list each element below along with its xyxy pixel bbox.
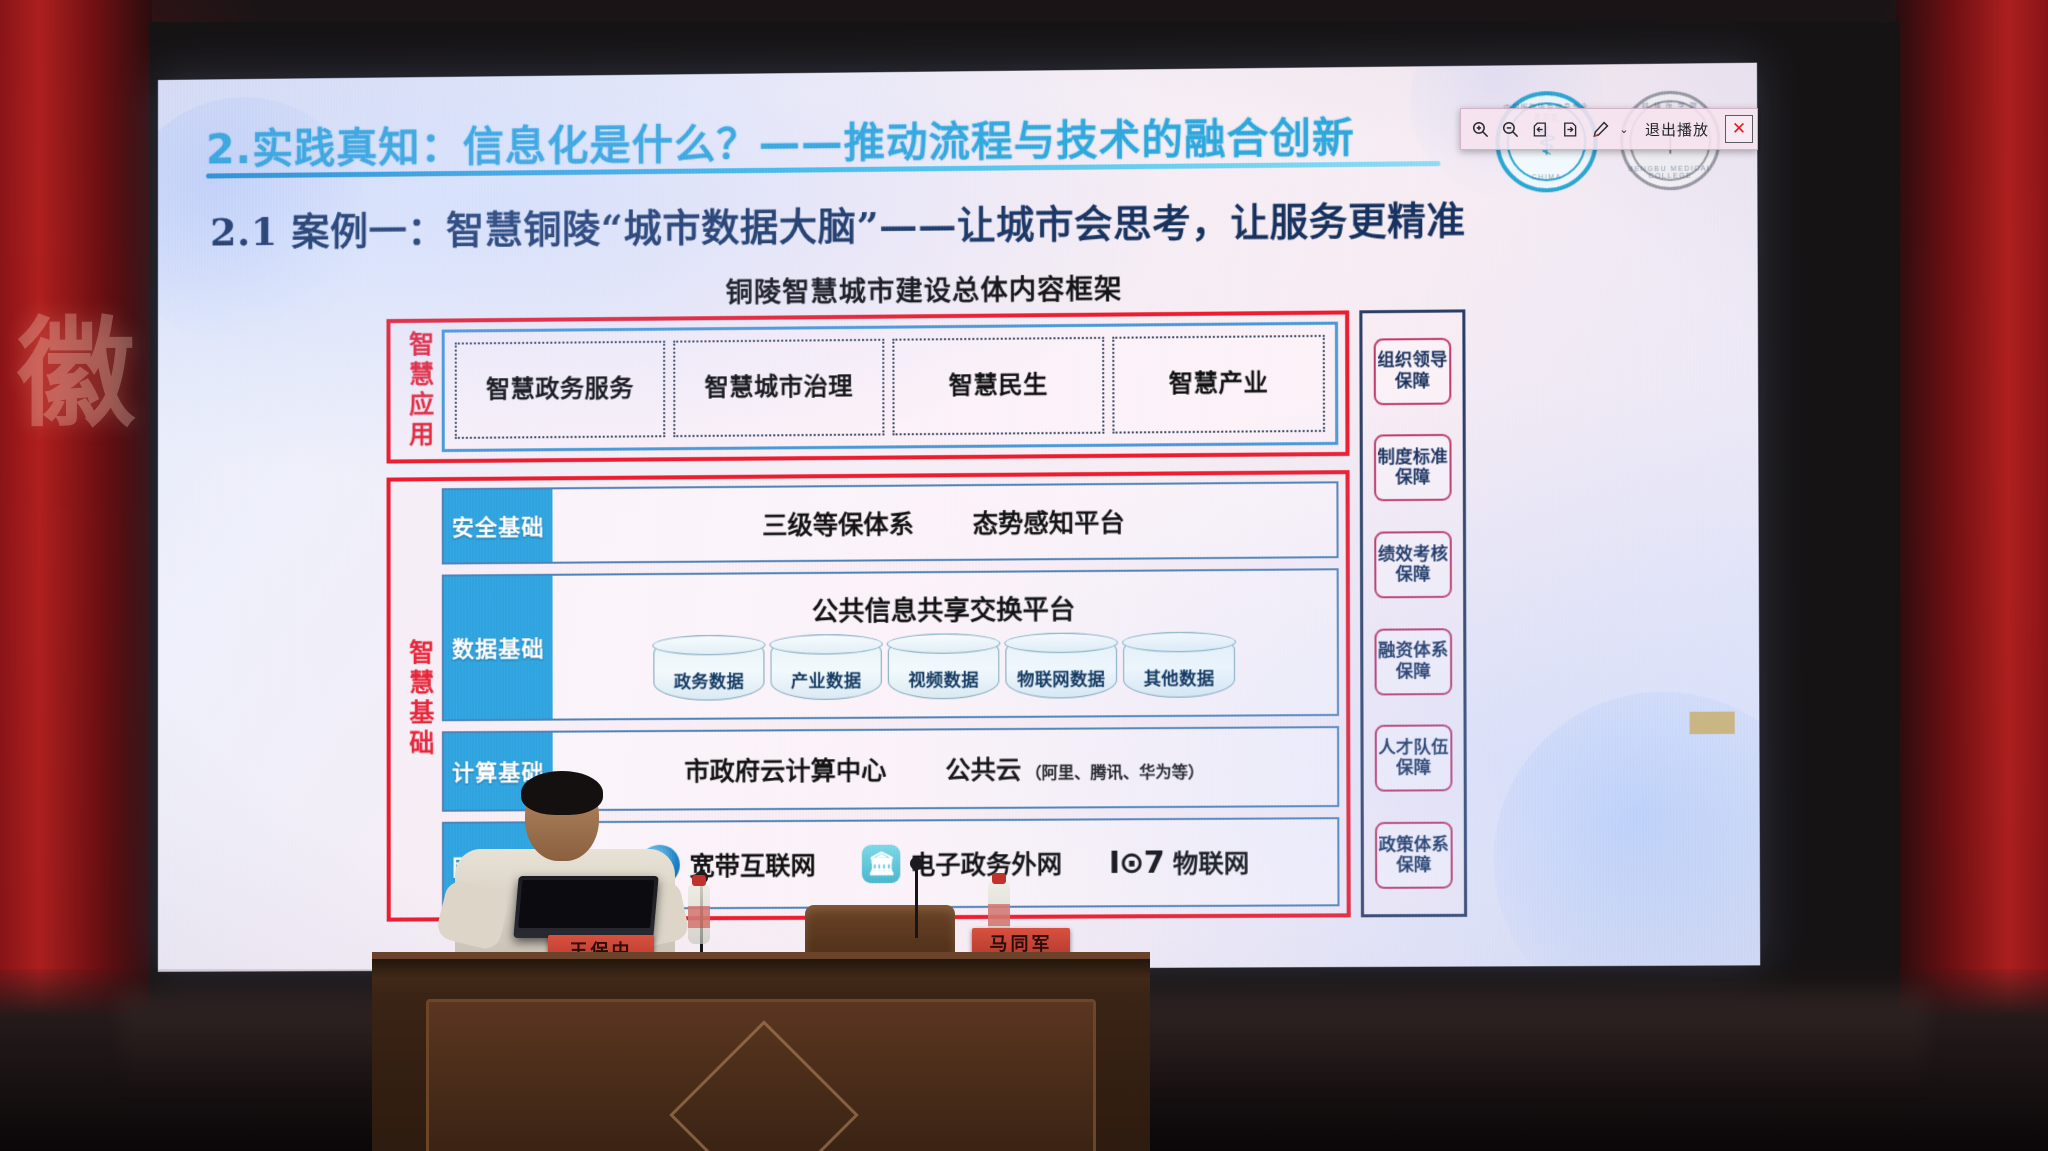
network-label: 电子政务外网 bbox=[910, 845, 1062, 882]
previous-page-icon[interactable] bbox=[1525, 113, 1555, 145]
guarantee-item: 制度标准保障 bbox=[1374, 434, 1452, 501]
database-label: 政务数据 bbox=[674, 667, 744, 693]
iot-logo-text: I⊙7 bbox=[1109, 845, 1164, 881]
database-cylinders: 政务数据 产业数据 视频数据 物联网数据 其他数据 bbox=[565, 631, 1325, 701]
government-building-icon: 🏛 bbox=[862, 845, 901, 884]
data-body: 公共信息共享交换平台 政务数据 产业数据 视频数据 物联网数据 其他数据 bbox=[553, 570, 1337, 718]
screen-frame: 2.实践真知：信息化是什么？——推动流程与技术的融合创新 2.1 案例一：智慧铜… bbox=[150, 22, 1900, 1062]
screen-artifact bbox=[1690, 712, 1735, 735]
iot-logo-icon: I⊙7 bbox=[1109, 845, 1164, 881]
database-cylinder: 视频数据 bbox=[888, 633, 1000, 699]
next-page-icon[interactable] bbox=[1555, 113, 1585, 145]
compute-note: （阿里、腾讯、华为等） bbox=[1025, 758, 1204, 783]
guarantee-item: 政策体系保障 bbox=[1375, 822, 1453, 889]
security-row: 安全基础 三级等保体系 态势感知平台 bbox=[442, 481, 1339, 564]
network-item-iot: I⊙7 物联网 bbox=[1109, 844, 1250, 881]
presenter-hair bbox=[521, 771, 603, 815]
app-cell: 智慧民生 bbox=[892, 337, 1104, 436]
application-layer-label: 智慧应用 bbox=[398, 330, 442, 453]
database-cylinder: 物联网数据 bbox=[1005, 632, 1117, 698]
close-button[interactable]: ✕ bbox=[1725, 115, 1753, 143]
data-tag: 数据基础 bbox=[444, 576, 553, 719]
auditorium-stage: 徽 2.实践真知：信息化是什么？——推动流程与技术的融合创新 2.1 案例一：智… bbox=[0, 0, 2048, 1151]
application-cells: 智慧政务服务 智慧城市治理 智慧民生 智慧产业 bbox=[442, 322, 1339, 452]
presentation-toolbar[interactable]: ⌄ 退出播放 ✕ bbox=[1460, 108, 1758, 150]
network-item-egov: 🏛 电子政务外网 bbox=[862, 844, 1062, 883]
guarantee-item: 人才队伍保障 bbox=[1375, 725, 1453, 792]
zoom-out-icon[interactable] bbox=[1495, 113, 1525, 145]
guarantee-item: 融资体系保障 bbox=[1374, 628, 1452, 695]
laptop bbox=[513, 876, 658, 938]
application-layer: 智慧应用 智慧政务服务 智慧城市治理 智慧民生 智慧产业 bbox=[386, 310, 1349, 463]
database-label: 视频数据 bbox=[908, 666, 979, 692]
database-label: 物联网数据 bbox=[1017, 665, 1105, 691]
security-item: 三级等保体系 bbox=[762, 505, 914, 542]
database-cylinder: 产业数据 bbox=[770, 634, 881, 700]
chevron-down-icon[interactable]: ⌄ bbox=[1615, 123, 1633, 136]
network-label: 物联网 bbox=[1173, 844, 1249, 881]
emblem-ring-bottom: CHIMA bbox=[1500, 174, 1594, 182]
app-cell: 智慧城市治理 bbox=[673, 339, 884, 437]
database-label: 产业数据 bbox=[791, 666, 861, 692]
slide-content: 2.实践真知：信息化是什么？——推动流程与技术的融合创新 2.1 案例一：智慧铜… bbox=[158, 63, 1760, 972]
database-cylinder: 其他数据 bbox=[1123, 632, 1235, 698]
laptop-screen bbox=[518, 880, 654, 928]
foundation-layer-label: 智慧基础 bbox=[398, 488, 442, 910]
guarantee-item: 绩效考核保障 bbox=[1374, 531, 1452, 598]
security-tag: 安全基础 bbox=[444, 489, 553, 562]
data-row: 数据基础 公共信息共享交换平台 政务数据 产业数据 视频数据 物联网数据 bbox=[442, 568, 1339, 721]
app-cell: 智慧政务服务 bbox=[455, 341, 665, 439]
exit-playback-button[interactable]: 退出播放 bbox=[1633, 119, 1721, 140]
security-item: 态势感知平台 bbox=[973, 503, 1125, 540]
projection-screen: 2.实践真知：信息化是什么？——推动流程与技术的融合创新 2.1 案例一：智慧铜… bbox=[158, 63, 1760, 972]
pen-icon[interactable] bbox=[1585, 113, 1615, 145]
slide-subtitle: 2.1 案例一：智慧铜陵“城市数据大脑”——让城市会思考，让服务更精准 bbox=[210, 188, 1545, 256]
network-label: 宽带互联网 bbox=[689, 846, 815, 883]
water-bottle bbox=[688, 884, 710, 944]
diagram-title: 铜陵智慧城市建设总体内容框架 bbox=[386, 264, 1465, 313]
app-cell: 智慧产业 bbox=[1112, 335, 1325, 434]
exchange-platform-label: 公共信息共享交换平台 bbox=[812, 589, 1075, 628]
curtain-glyph-left: 徽 bbox=[6, 300, 146, 448]
security-items: 三级等保体系 态势感知平台 bbox=[552, 483, 1336, 561]
emblem-ring-bottom-2: BENGBU MEDICAL COLLEGE bbox=[1623, 165, 1717, 180]
desk-panel bbox=[426, 999, 1096, 1151]
guarantee-column: 组织领导保障 制度标准保障 绩效考核保障 融资体系保障 人才队伍保障 政策体系保… bbox=[1359, 309, 1467, 917]
compute-item: 公共云 bbox=[945, 750, 1021, 787]
presenter-desk bbox=[372, 952, 1150, 1151]
database-label: 其他数据 bbox=[1144, 664, 1215, 690]
compute-item: 市政府云计算中心 bbox=[684, 751, 886, 788]
database-cylinder: 政务数据 bbox=[653, 635, 764, 701]
desk-ornament bbox=[669, 1020, 859, 1151]
guarantee-item: 组织领导保障 bbox=[1374, 338, 1452, 405]
zoom-in-icon[interactable] bbox=[1465, 113, 1495, 145]
